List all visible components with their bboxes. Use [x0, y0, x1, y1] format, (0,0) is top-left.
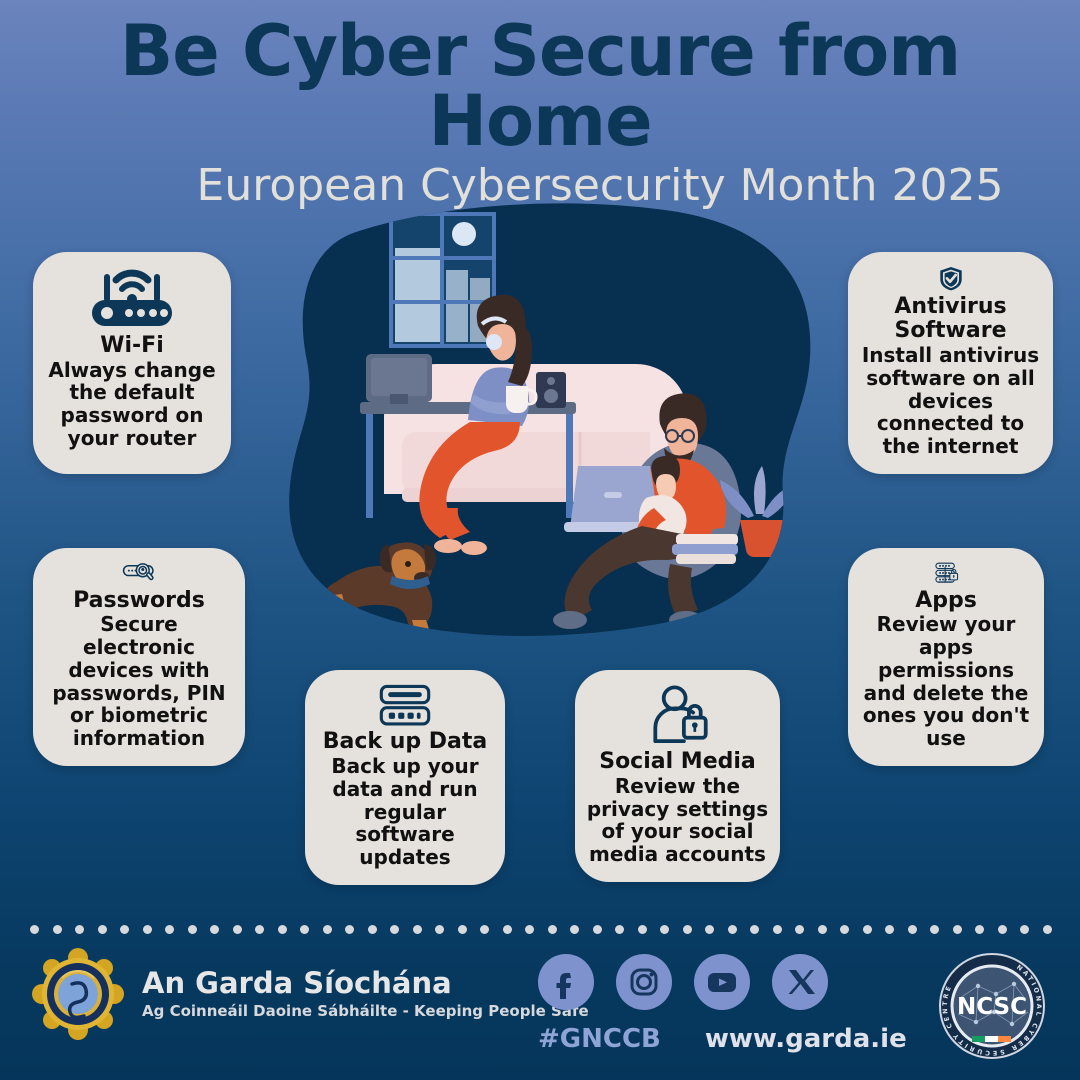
tip-card-body: Review the privacy settings of your soci… [585, 775, 770, 866]
divider-dot [120, 925, 129, 934]
tip-card-body: Review your apps permissions and delete … [858, 613, 1034, 750]
poster-header: Be Cyber Secure from Home European Cyber… [0, 0, 1080, 208]
divider-dot [593, 925, 602, 934]
divider-dot [705, 925, 714, 934]
divider-dot [143, 925, 152, 934]
divider-dot [683, 925, 692, 934]
divider-dotted-line [30, 922, 1052, 936]
divider-dot [660, 925, 669, 934]
divider-dot [255, 925, 264, 934]
divider-dot [930, 925, 939, 934]
garda-branding: An Garda Síochána Ag Coinneáil Daoine Sá… [32, 948, 589, 1040]
tip-card-body: Back up your data and run regular softwa… [315, 755, 495, 869]
person-lock-icon [641, 684, 715, 746]
divider-dot [480, 925, 489, 934]
page-title: Be Cyber Secure from Home [0, 0, 1080, 156]
garda-name: An Garda Síochána [142, 968, 589, 1000]
tip-card-title: Back up Data [323, 730, 487, 755]
tip-card-wifi[interactable]: Wi-Fi Always change the default password… [33, 252, 231, 474]
divider-dot [30, 925, 39, 934]
tip-card-antivirus[interactable]: Antivirus Software Install antivirus sof… [848, 252, 1053, 474]
divider-dot [413, 925, 422, 934]
tip-card-title: Social Media [599, 750, 756, 775]
divider-dot [368, 925, 377, 934]
facebook-icon[interactable] [538, 954, 594, 1010]
divider-dot [998, 925, 1007, 934]
divider-dot [750, 925, 759, 934]
server-lock-icon [903, 562, 989, 585]
x-twitter-icon[interactable] [772, 954, 828, 1010]
divider-dot [98, 925, 107, 934]
divider-dot [953, 925, 962, 934]
divider-dot [728, 925, 737, 934]
divider-dot [908, 925, 917, 934]
divider-dot [795, 925, 804, 934]
tip-card-title: Antivirus Software [858, 295, 1043, 344]
divider-dot [1020, 925, 1029, 934]
divider-dot [345, 925, 354, 934]
divider-dot [278, 925, 287, 934]
tip-card-apps[interactable]: Apps Review your apps permissions and de… [848, 548, 1044, 766]
garda-text-block: An Garda Síochána Ag Coinneáil Daoine Sá… [142, 968, 589, 1021]
tip-card-body: Install antivirus software on all device… [858, 344, 1043, 458]
divider-dot [773, 925, 782, 934]
divider-dot [75, 925, 84, 934]
garda-tagline: Ag Coinneáil Daoine Sábháilte - Keeping … [142, 1002, 589, 1020]
tip-card-body: Always change the default password on yo… [43, 359, 221, 450]
tip-card-passwords[interactable]: Passwords Secure electronic devices with… [33, 548, 245, 766]
divider-dot [53, 925, 62, 934]
server-stack-icon [359, 684, 451, 726]
hashtag-label: #GNCCB [538, 1024, 661, 1054]
garda-crest-icon [32, 948, 124, 1040]
divider-dot [188, 925, 197, 934]
ncsc-logo-icon: NCSC NATIONAL CYBER SECURITY CENTRE [938, 952, 1046, 1060]
tip-card-body: Secure electronic devices with passwords… [43, 613, 235, 750]
books-graphic [672, 534, 738, 564]
divider-dot [863, 925, 872, 934]
divider-dot [435, 925, 444, 934]
irish-tricolour-icon [972, 1036, 1011, 1042]
divider-dot [233, 925, 242, 934]
divider-dot [840, 925, 849, 934]
divider-dot [975, 925, 984, 934]
divider-dot [323, 925, 332, 934]
ncsc-acronym: NCSC [957, 994, 1027, 1020]
wifi-router-icon [86, 266, 178, 330]
divider-dot [300, 925, 309, 934]
tip-card-backup[interactable]: Back up Data Back up your data and run r… [305, 670, 505, 885]
divider-dot [503, 925, 512, 934]
divider-dot [458, 925, 467, 934]
youtube-icon[interactable] [694, 954, 750, 1010]
divider-dot [885, 925, 894, 934]
password-magnifier-icon [92, 562, 186, 585]
website-label[interactable]: www.garda.ie [705, 1024, 907, 1054]
divider-dot [525, 925, 534, 934]
poster-footer: An Garda Síochána Ag Coinneáil Daoine Sá… [0, 940, 1080, 1080]
divider-dot [210, 925, 219, 934]
instagram-icon[interactable] [616, 954, 672, 1010]
divider-dot [165, 925, 174, 934]
divider-dot [1043, 925, 1052, 934]
tip-card-title: Passwords [73, 589, 205, 614]
tip-card-title: Wi-Fi [100, 334, 164, 359]
divider-dot [638, 925, 647, 934]
shield-check-icon [913, 266, 989, 291]
footer-handles: #GNCCB www.garda.ie [538, 1024, 907, 1054]
divider-dot [548, 925, 557, 934]
family-working-from-home-illustration [278, 196, 818, 646]
divider-dot [818, 925, 827, 934]
tip-card-title: Apps [915, 589, 977, 614]
tip-card-social-media[interactable]: Social Media Review the privacy settings… [575, 670, 780, 882]
speaker-graphic [536, 372, 566, 408]
divider-dot [570, 925, 579, 934]
poster-canvas: Be Cyber Secure from Home European Cyber… [0, 0, 1080, 1080]
divider-dot [615, 925, 624, 934]
social-links [538, 954, 828, 1010]
divider-dot [390, 925, 399, 934]
